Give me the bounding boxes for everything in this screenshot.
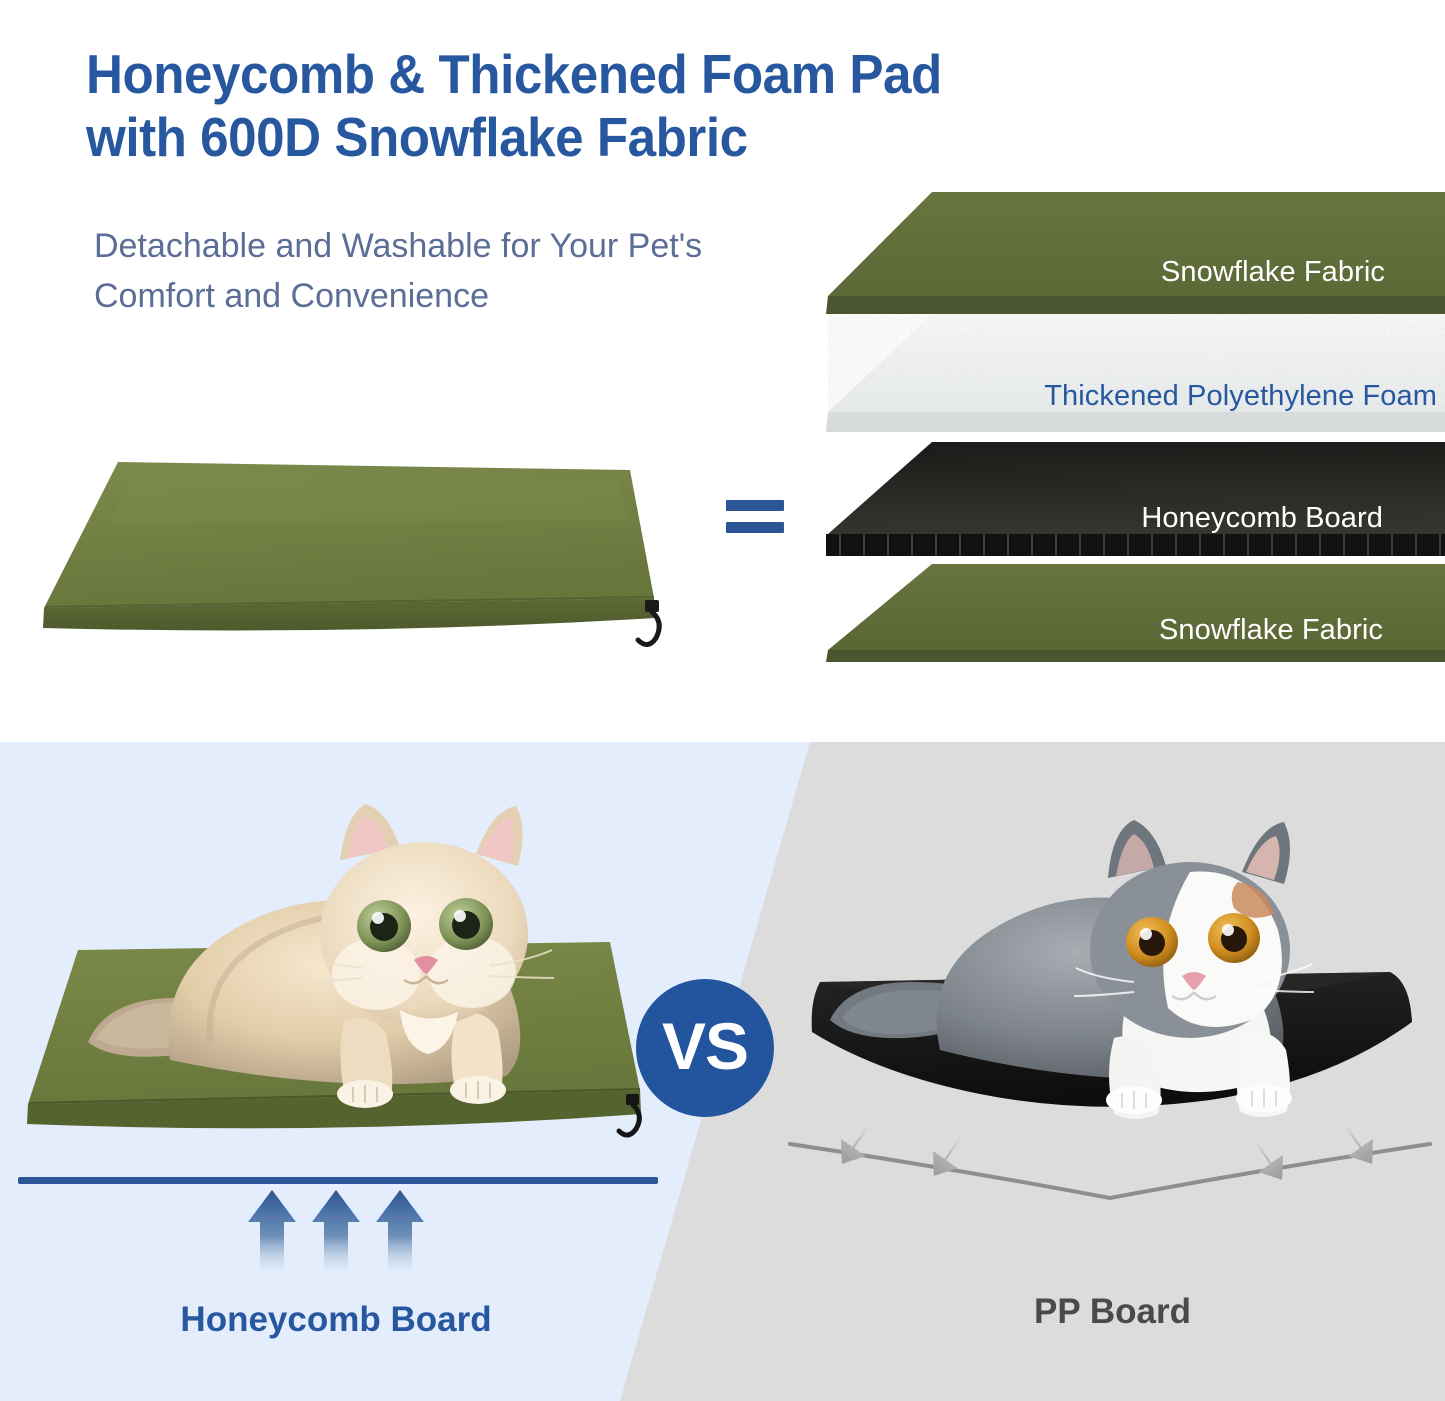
layer-label: Thickened Polyethylene Foam — [1044, 380, 1437, 413]
honeycomb-board-label: Honeycomb Board — [0, 1300, 672, 1340]
honeycomb-up-arrows — [248, 1190, 448, 1278]
pp-board-label: PP Board — [780, 1292, 1445, 1332]
honeycomb-cat-image — [10, 742, 670, 1172]
layer-polyethylene-foam: Thickened Polyethylene Foam — [820, 314, 1445, 436]
infographic-root: Honeycomb & Thickened Foam Pad with 600D… — [0, 0, 1445, 1401]
layer-label: Snowflake Fabric — [1159, 614, 1383, 647]
product-mat-image — [18, 440, 698, 670]
page-title: Honeycomb & Thickened Foam Pad with 600D… — [86, 43, 1323, 168]
layer-snowflake-fabric-bottom: Snowflake Fabric — [820, 564, 1445, 664]
equals-icon — [726, 500, 784, 540]
page-subtitle: Detachable and Washable for Your Pet's C… — [94, 222, 924, 322]
vs-label: VS — [662, 1013, 748, 1079]
sag-curve-and-arrows — [780, 1102, 1445, 1252]
layer-label: Snowflake Fabric — [1161, 256, 1385, 289]
layer-slab-shape — [820, 192, 1445, 314]
layer-snowflake-fabric-top: Snowflake Fabric — [820, 192, 1445, 314]
honeycomb-support-line — [18, 1177, 658, 1184]
layer-stack-diagram: Snowflake Fabric — [820, 192, 1445, 662]
layer-slab-shape — [820, 314, 1445, 436]
vs-badge: VS — [636, 979, 774, 1117]
top-section: Honeycomb & Thickened Foam Pad with 600D… — [0, 0, 1445, 742]
cat-on-honeycomb-mat-illustration — [10, 742, 670, 1172]
pp-sag-indicator — [780, 1102, 1445, 1252]
layer-honeycomb-board: Honeycomb Board — [820, 442, 1445, 564]
up-arrow-icon-group — [248, 1190, 448, 1278]
layer-label: Honeycomb Board — [1141, 502, 1383, 535]
mat-illustration — [18, 440, 698, 670]
